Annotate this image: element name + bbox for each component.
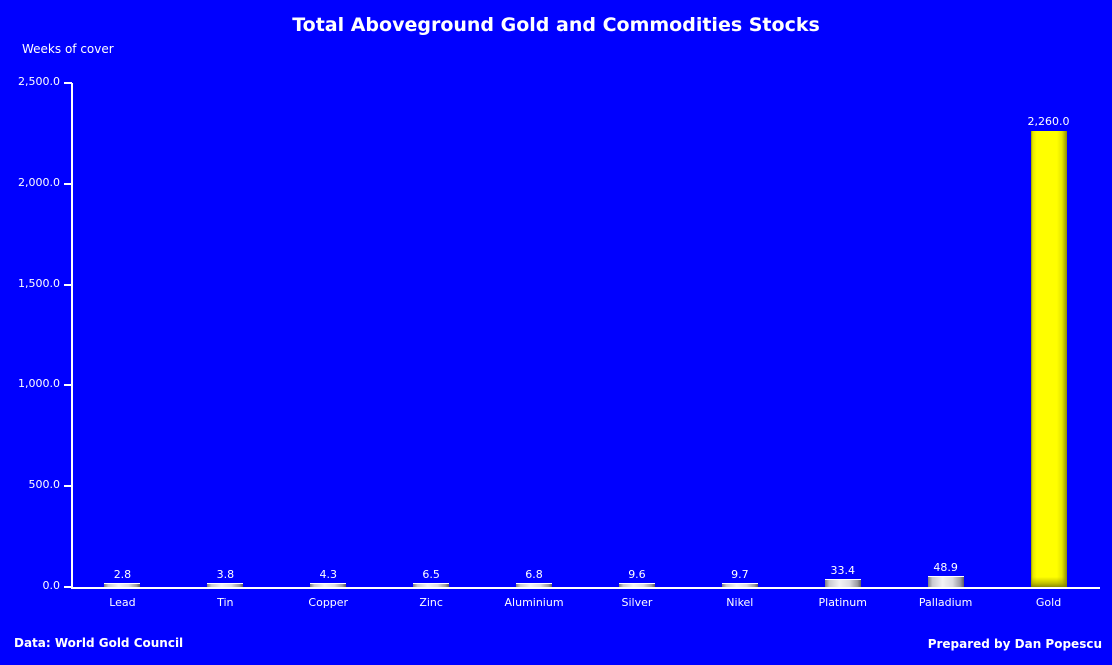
bar-aluminium[interactable]: 6.8	[516, 584, 552, 587]
y-axis-tick-label: 1,500.0	[0, 277, 60, 290]
bar-value-label: 6.8	[525, 568, 543, 581]
bar-rect	[825, 579, 861, 587]
bar-platinum[interactable]: 33.4	[825, 580, 861, 587]
y-axis-tick-label: 1,000.0	[0, 377, 60, 390]
x-axis-category-label: Gold	[997, 596, 1100, 609]
x-axis-category-label: Zinc	[380, 596, 483, 609]
y-axis-title: Weeks of cover	[22, 42, 114, 56]
bar-value-label: 9.7	[731, 568, 749, 581]
y-axis-tick-label: 2,000.0	[0, 176, 60, 189]
chart-title: Total Aboveground Gold and Commodities S…	[0, 14, 1112, 36]
bar-value-label: 48.9	[933, 561, 958, 574]
bar-value-label: 2.8	[114, 568, 132, 581]
bar-rect	[413, 583, 449, 587]
bar-rect	[310, 583, 346, 587]
x-axis-category-label: Palladium	[894, 596, 997, 609]
bar-rect	[928, 576, 964, 587]
bar-rect	[207, 583, 243, 587]
y-axis-tick-label: 0.0	[0, 579, 60, 592]
x-axis-category-label: Aluminium	[483, 596, 586, 609]
y-axis-line	[71, 83, 73, 588]
y-axis-tick-mark	[64, 485, 72, 487]
footer-author: Prepared by Dan Popescu	[928, 637, 1102, 651]
bar-value-label: 6.5	[422, 568, 440, 581]
x-axis-category-label: Lead	[71, 596, 174, 609]
bar-zinc[interactable]: 6.5	[413, 584, 449, 587]
bar-copper[interactable]: 4.3	[310, 584, 346, 587]
bar-value-label: 9.6	[628, 568, 646, 581]
bar-rect	[619, 583, 655, 587]
y-axis-tick-mark	[64, 183, 72, 185]
x-axis-line	[71, 587, 1100, 589]
bar-value-label: 4.3	[320, 568, 338, 581]
x-axis-category-label: Platinum	[791, 596, 894, 609]
bar-rect	[722, 583, 758, 587]
y-axis-tick-mark	[64, 82, 72, 84]
y-axis-tick-mark	[64, 284, 72, 286]
y-axis-tick-mark	[64, 384, 72, 386]
footer-source: Data: World Gold Council	[14, 636, 183, 650]
bar-rect	[516, 583, 552, 587]
x-axis-category-label: Nikel	[688, 596, 791, 609]
y-axis-tick-label: 500.0	[0, 478, 60, 491]
bar-lead[interactable]: 2.8	[104, 584, 140, 587]
y-axis-tick-mark	[64, 586, 72, 588]
y-axis-tick-label: 2,500.0	[0, 75, 60, 88]
bar-tin[interactable]: 3.8	[207, 584, 243, 587]
bar-palladium[interactable]: 48.9	[928, 577, 964, 587]
bar-value-label: 3.8	[217, 568, 235, 581]
bar-silver[interactable]: 9.6	[619, 584, 655, 587]
bar-value-label: 2,260.0	[1028, 115, 1070, 128]
bar-nikel[interactable]: 9.7	[722, 584, 758, 587]
x-axis-category-label: Tin	[174, 596, 277, 609]
chart-container: Total Aboveground Gold and Commodities S…	[0, 0, 1112, 665]
x-axis-category-label: Copper	[277, 596, 380, 609]
bar-rect	[1031, 131, 1067, 587]
bar-gold[interactable]: 2,260.0	[1031, 131, 1067, 587]
x-axis-category-label: Silver	[586, 596, 689, 609]
bar-rect	[104, 583, 140, 587]
bar-value-label: 33.4	[831, 564, 856, 577]
